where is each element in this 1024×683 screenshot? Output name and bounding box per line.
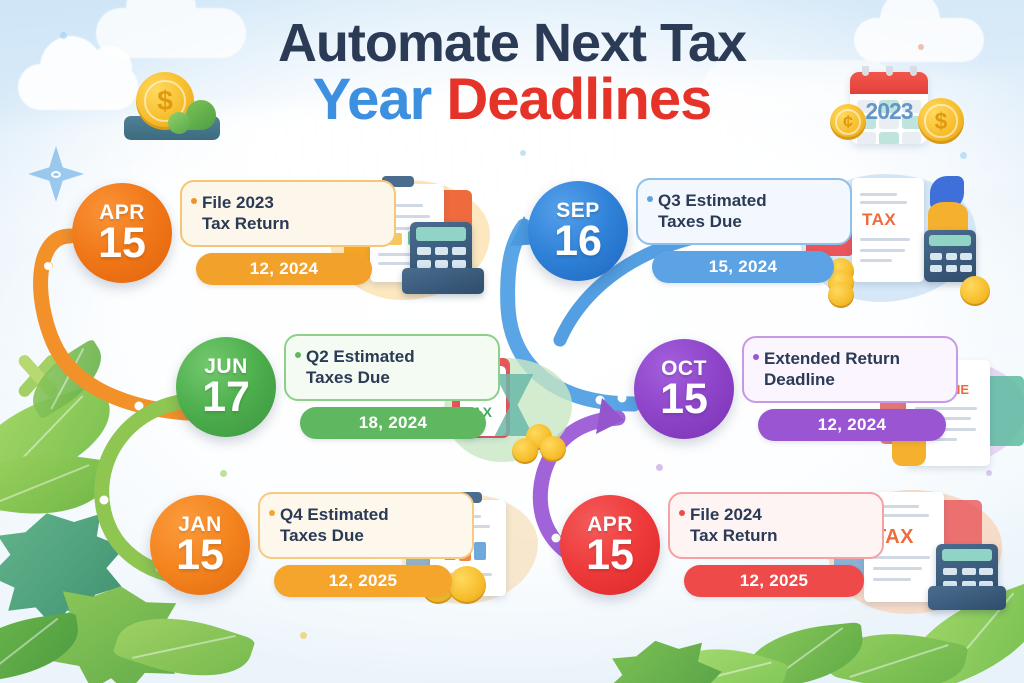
badge-day: 15 (98, 222, 146, 264)
card-date-label: 12, 2024 (818, 415, 887, 435)
card-panel: File 2024 Tax Return 12, 2025 (634, 492, 884, 597)
confetti-dot (46, 262, 53, 269)
bullet-dot-icon (647, 196, 653, 202)
card-title-box: Extended Return Deadline (742, 336, 958, 403)
bullet-dot-icon (753, 354, 759, 360)
infographic-poster: Automate Next Tax Year Deadlines $ 2023 … (0, 0, 1024, 683)
confetti-dot (986, 470, 992, 476)
confetti-dot (960, 152, 967, 159)
card-title: File 2023 Tax Return (202, 193, 290, 234)
confetti-dot (300, 632, 307, 639)
bullet-dot-icon (191, 198, 197, 204)
confetti-dot (656, 464, 663, 471)
card-panel: Q2 Estimated Taxes Due 18, 2024 (250, 334, 500, 439)
badge-day: 17 (202, 376, 250, 418)
card-title: Q2 Estimated Taxes Due (306, 347, 415, 388)
card-panel: Q3 Estimated Taxes Due 15, 2024 (602, 178, 852, 283)
card-panel: Q4 Estimated Taxes Due 12, 2025 (224, 492, 474, 597)
card-date-label: 12, 2024 (250, 259, 319, 279)
card-date-label: 15, 2024 (709, 257, 778, 277)
deadline-card-jun-17-2024[interactable]: JUN 17 Q2 Estimated Taxes Due 18, 2024 (176, 334, 500, 439)
card-title-box: Q2 Estimated Taxes Due (284, 334, 500, 401)
date-badge: APR 15 (560, 495, 660, 595)
confetti-dot (520, 150, 526, 156)
badge-day: 15 (586, 534, 634, 576)
card-date-pill: 15, 2024 (652, 251, 834, 283)
tax-word-label: TAX (862, 210, 896, 230)
title-line-2: Year Deadlines (0, 71, 1024, 129)
card-date-pill: 12, 2024 (196, 253, 372, 285)
deadline-card-sep-16-2024[interactable]: SEP 16 Q3 Estimated Taxes Due 15, 2024 (528, 178, 852, 283)
card-date-label: 12, 2025 (329, 571, 398, 591)
card-panel: Extended Return Deadline 12, 2024 (708, 336, 958, 441)
title-line-1: Automate Next Tax (0, 16, 1024, 71)
date-badge: APR 15 (72, 183, 172, 283)
badge-day: 16 (554, 220, 602, 262)
date-badge: OCT 15 (634, 339, 734, 439)
card-title-box: File 2024 Tax Return (668, 492, 884, 559)
bullet-dot-icon (269, 510, 275, 516)
deadline-card-jan-15-2025[interactable]: JAN 15 Q4 Estimated Taxes Due 12, 2025 (150, 492, 474, 597)
bullet-dot-icon (679, 510, 685, 516)
deadline-card-apr-15-2025[interactable]: APR 15 File 2024 Tax Return 12, 2025 (560, 492, 884, 597)
date-badge: SEP 16 (528, 181, 628, 281)
date-badge: JAN 15 (150, 495, 250, 595)
card-title: Q3 Estimated Taxes Due (658, 191, 767, 232)
deadline-card-oct-15-2024[interactable]: OCT 15 Extended Return Deadline 12, 2024 (634, 336, 958, 441)
card-date-label: 18, 2024 (359, 413, 428, 433)
bullet-dot-icon (295, 352, 301, 358)
date-badge: JUN 17 (176, 337, 276, 437)
card-date-pill: 18, 2024 (300, 407, 486, 439)
card-date-pill: 12, 2025 (274, 565, 452, 597)
card-title-box: Q4 Estimated Taxes Due (258, 492, 474, 559)
confetti-dot (220, 470, 227, 477)
card-title: File 2024 Tax Return (690, 505, 778, 546)
title-word-year: Year (313, 67, 447, 132)
card-date-pill: 12, 2025 (684, 565, 864, 597)
card-date-pill: 12, 2024 (758, 409, 946, 441)
card-title-box: File 2023 Tax Return (180, 180, 396, 247)
card-date-label: 12, 2025 (740, 571, 809, 591)
card-panel: File 2023 Tax Return 12, 2024 (146, 180, 396, 285)
poster-title: Automate Next Tax Year Deadlines (0, 16, 1024, 129)
badge-day: 15 (176, 534, 224, 576)
card-title: Q4 Estimated Taxes Due (280, 505, 389, 546)
title-word-deadlines: Deadlines (446, 67, 711, 132)
badge-day: 15 (660, 378, 708, 420)
deadline-card-apr-15-2024[interactable]: APR 15 File 2023 Tax Return 12, 2024 (72, 180, 396, 285)
card-title: Extended Return Deadline (764, 349, 900, 390)
card-title-box: Q3 Estimated Taxes Due (636, 178, 852, 245)
